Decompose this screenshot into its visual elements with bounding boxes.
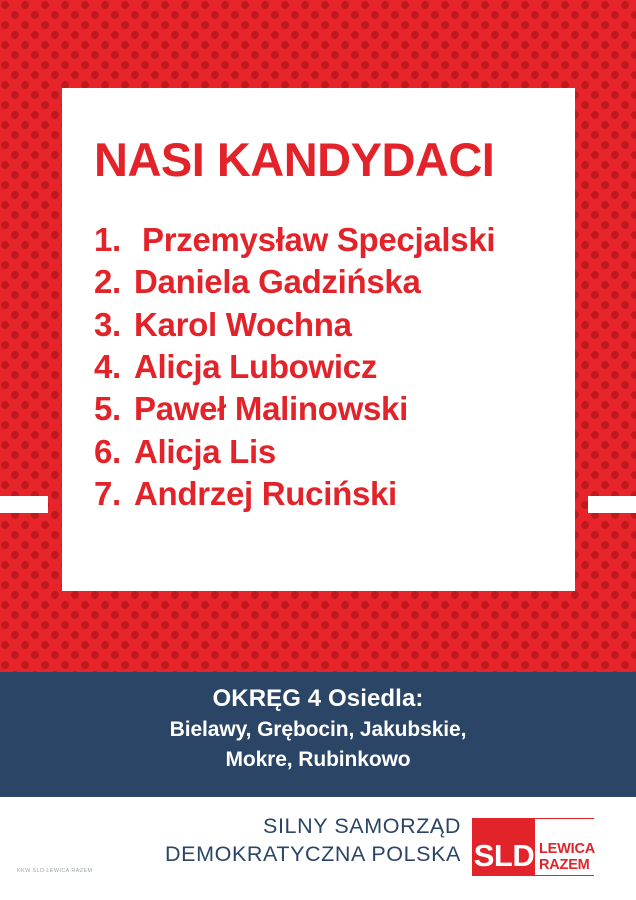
election-poster: NASI KANDYDACI 1. Przemysław Specjalski … bbox=[0, 0, 636, 900]
candidates-panel: NASI KANDYDACI 1. Przemysław Specjalski … bbox=[62, 88, 575, 591]
candidate-number: 4. bbox=[94, 346, 134, 388]
right-white-notch bbox=[588, 496, 636, 513]
candidate-name: Alicja Lubowicz bbox=[134, 346, 377, 388]
district-heading: OKRĘG 4 Osiedla: bbox=[0, 684, 636, 715]
candidate-number: 2. bbox=[94, 261, 134, 303]
list-item: 6. Alicja Lis bbox=[94, 431, 555, 473]
list-item: 5. Paweł Malinowski bbox=[94, 388, 555, 430]
district-band: OKRĘG 4 Osiedla: Bielawy, Grębocin, Jaku… bbox=[0, 672, 636, 797]
list-item: 7. Andrzej Ruciński bbox=[94, 473, 555, 515]
district-line-2: Mokre, Rubinkowo bbox=[0, 745, 636, 775]
candidate-name: Andrzej Ruciński bbox=[134, 473, 397, 515]
candidate-number: 5. bbox=[94, 388, 134, 430]
candidate-number: 6. bbox=[94, 431, 134, 473]
slogan-line-2: DEMOKRATYCZNA POLSKA bbox=[165, 841, 461, 869]
candidate-name: Przemysław Specjalski bbox=[142, 219, 495, 261]
logo-lewica-razem-block: LEWICA RAZEM bbox=[535, 819, 595, 875]
candidate-name: Daniela Gadzińska bbox=[134, 261, 421, 303]
candidate-number: 1. bbox=[94, 219, 142, 261]
list-item: 2. Daniela Gadzińska bbox=[94, 261, 555, 303]
logo-sld-text: SLD bbox=[473, 819, 535, 875]
slogan-line-1: SILNY SAMORZĄD bbox=[165, 813, 461, 841]
district-line-1: Bielawy, Grębocin, Jakubskie, bbox=[0, 715, 636, 745]
left-white-notch bbox=[0, 496, 48, 513]
campaign-slogan: SILNY SAMORZĄD DEMOKRATYCZNA POLSKA bbox=[165, 813, 461, 869]
list-item: 4. Alicja Lubowicz bbox=[94, 346, 555, 388]
sld-lewica-razem-logo: SLD LEWICA RAZEM bbox=[472, 818, 594, 876]
page-title: NASI KANDYDACI bbox=[94, 136, 555, 185]
list-item: 1. Przemysław Specjalski bbox=[94, 219, 555, 261]
committee-fine-print: KKW SLD LEWICA RAZEM bbox=[17, 868, 93, 874]
logo-lewica-text: LEWICA bbox=[539, 841, 595, 857]
candidate-name: Karol Wochna bbox=[134, 304, 352, 346]
candidate-list: 1. Przemysław Specjalski 2. Daniela Gadz… bbox=[94, 219, 555, 516]
candidate-number: 7. bbox=[94, 473, 134, 515]
candidate-name: Paweł Malinowski bbox=[134, 388, 408, 430]
logo-razem-text: RAZEM bbox=[539, 857, 590, 873]
list-item: 3. Karol Wochna bbox=[94, 304, 555, 346]
candidate-name: Alicja Lis bbox=[134, 431, 276, 473]
candidates-panel-content: NASI KANDYDACI 1. Przemysław Specjalski … bbox=[94, 136, 555, 516]
candidate-number: 3. bbox=[94, 304, 134, 346]
